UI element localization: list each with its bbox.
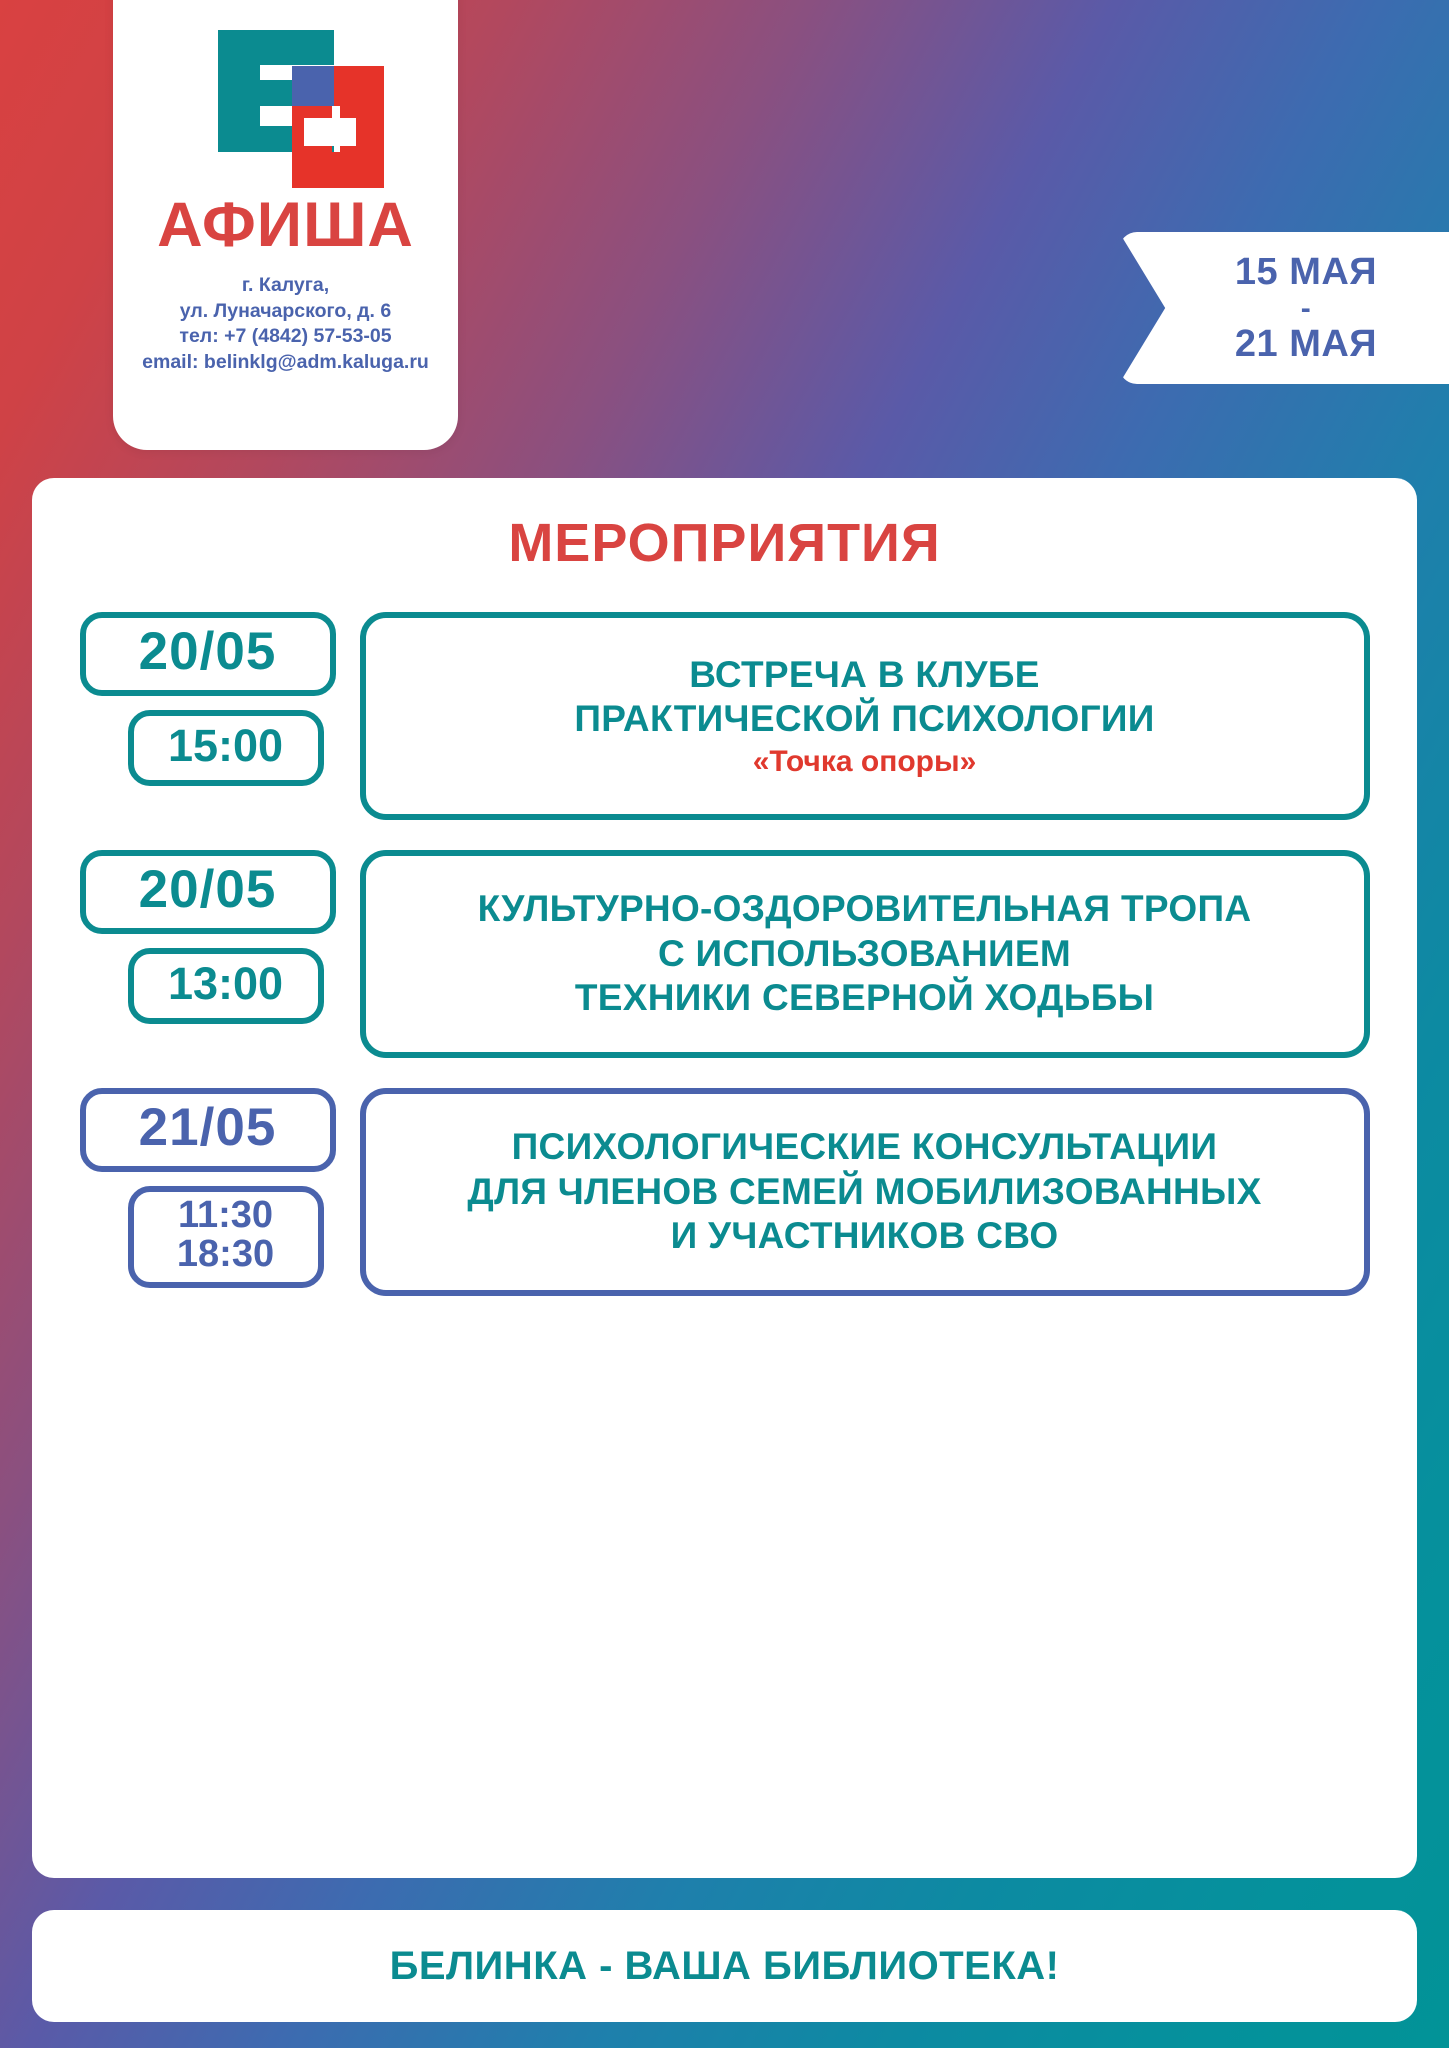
event-title-card: ВСТРЕЧА В КЛУБЕ ПРАКТИЧЕСКОЙ ПСИХОЛОГИИ … <box>360 612 1370 820</box>
event-when: 21/05 11:30 18:30 <box>80 1088 360 1288</box>
logo-wordmark: АФИША <box>157 194 414 257</box>
event-title-card: КУЛЬТУРНО-ОЗДОРОВИТЕЛЬНАЯ ТРОПА С ИСПОЛЬ… <box>360 850 1370 1058</box>
event-when: 20/05 13:00 <box>80 850 360 1024</box>
contact-phone: тел: +7 (4842) 57-53-05 <box>142 324 429 350</box>
belinka-logo-icon <box>188 30 384 180</box>
footer-slogan: БЕЛИНКА - ВАША БИБЛИОТЕКА! <box>390 1944 1060 1989</box>
contact-email: email: belinklg@adm.kaluga.ru <box>142 350 429 376</box>
event-subtitle: «Точка опоры» <box>753 745 977 779</box>
poster: АФИША г. Калуга, ул. Луначарского, д. 6 … <box>0 0 1449 2048</box>
event-time: 15:00 <box>168 723 283 769</box>
page-title: МЕРОПРИЯТИЯ <box>32 512 1417 574</box>
event-title-line: КУЛЬТУРНО-ОЗДОРОВИТЕЛЬНАЯ ТРОПА <box>478 887 1252 931</box>
event-time: 13:00 <box>168 961 283 1007</box>
event-date-badge: 20/05 <box>80 612 336 696</box>
logo-card: АФИША г. Калуга, ул. Луначарского, д. 6 … <box>113 0 458 450</box>
event-time-badge: 11:30 18:30 <box>128 1186 324 1288</box>
events-panel: МЕРОПРИЯТИЯ 20/05 15:00 ВСТРЕЧА В КЛУБЕ … <box>32 478 1417 1878</box>
event-time-badge: 15:00 <box>128 710 324 786</box>
event-time: 18:30 <box>177 1235 274 1274</box>
event-time-badge: 13:00 <box>128 948 324 1024</box>
event-row: 20/05 15:00 ВСТРЕЧА В КЛУБЕ ПРАКТИЧЕСКОЙ… <box>80 612 1370 820</box>
event-title-line: ВСТРЕЧА В КЛУБЕ <box>689 653 1039 697</box>
event-title-line: И УЧАСТНИКОВ СВО <box>671 1214 1059 1258</box>
event-title-line: ПРАКТИЧЕСКОЙ ПСИХОЛОГИИ <box>574 697 1154 741</box>
date-range-banner: 15 МАЯ - 21 МАЯ <box>1119 232 1449 384</box>
event-title-line: С ИСПОЛЬЗОВАНИЕМ <box>658 932 1071 976</box>
event-row: 21/05 11:30 18:30 ПСИХОЛОГИЧЕСКИЕ КОНСУЛ… <box>80 1088 1370 1296</box>
events-list: 20/05 15:00 ВСТРЕЧА В КЛУБЕ ПРАКТИЧЕСКОЙ… <box>32 612 1417 1296</box>
date-range-to: 21 МАЯ <box>1235 322 1377 367</box>
event-title-line: ПСИХОЛОГИЧЕСКИЕ КОНСУЛЬТАЦИИ <box>512 1125 1218 1169</box>
event-title-card: ПСИХОЛОГИЧЕСКИЕ КОНСУЛЬТАЦИИ ДЛЯ ЧЛЕНОВ … <box>360 1088 1370 1296</box>
event-time: 11:30 <box>178 1196 273 1235</box>
date-range-from: 15 МАЯ <box>1235 250 1377 295</box>
event-title-line: ДЛЯ ЧЛЕНОВ СЕМЕЙ МОБИЛИЗОВАННЫХ <box>467 1170 1261 1214</box>
event-row: 20/05 13:00 КУЛЬТУРНО-ОЗДОРОВИТЕЛЬНАЯ ТР… <box>80 850 1370 1058</box>
event-date-badge: 20/05 <box>80 850 336 934</box>
event-date-badge: 21/05 <box>80 1088 336 1172</box>
event-when: 20/05 15:00 <box>80 612 360 786</box>
contact-street: ул. Луначарского, д. 6 <box>142 299 429 325</box>
date-range-dash: - <box>1301 295 1312 322</box>
event-title-line: ТЕХНИКИ СЕВЕРНОЙ ХОДЬБЫ <box>575 976 1154 1020</box>
footer-banner: БЕЛИНКА - ВАША БИБЛИОТЕКА! <box>32 1910 1417 2022</box>
contact-city: г. Калуга, <box>142 273 429 299</box>
contact-block: г. Калуга, ул. Луначарского, д. 6 тел: +… <box>142 273 429 376</box>
